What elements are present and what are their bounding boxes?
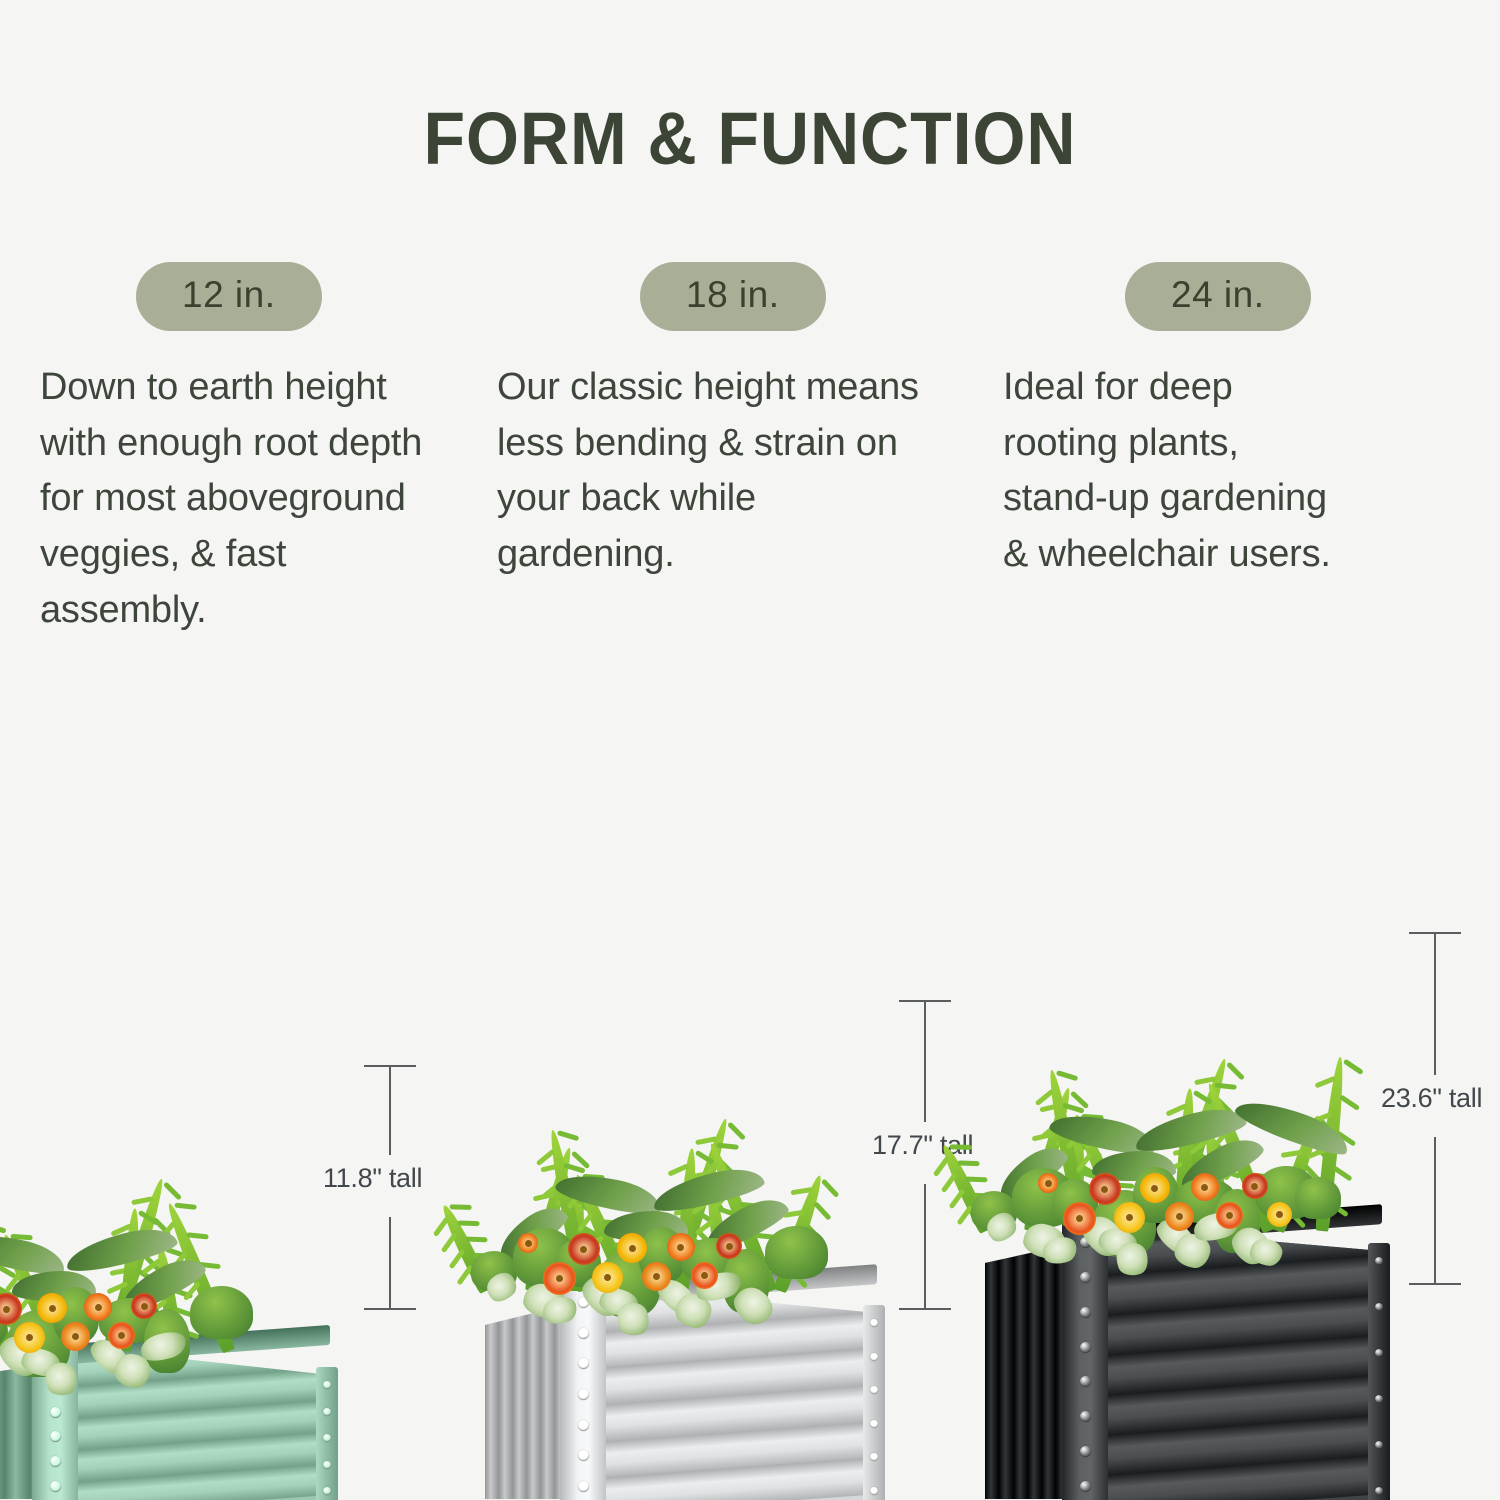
rivet-screw — [870, 1487, 878, 1495]
rivet-screw — [1080, 1307, 1091, 1318]
planter-front-panel — [55, 1345, 330, 1500]
rivet-screw — [1080, 1376, 1091, 1387]
rivet-screw — [1080, 1237, 1091, 1248]
corrugation-rib — [5, 1363, 30, 1499]
rivet-screw — [50, 1382, 61, 1393]
rivet-screw — [578, 1481, 589, 1492]
dimension-18in: 17.7" tall — [865, 1000, 985, 1310]
rivet-screw — [50, 1407, 61, 1418]
planter-box — [485, 985, 885, 1500]
corrugation-rib — [499, 1301, 513, 1499]
frond-barb — [449, 1249, 466, 1270]
product-image-18in — [485, 985, 885, 1500]
corrugation-rib — [541, 1301, 555, 1499]
corrugation-rib — [485, 1301, 499, 1499]
rivet-screw — [1080, 1272, 1091, 1283]
rivet-screw — [1080, 1342, 1091, 1353]
page-title: FORM & FUNCTION — [60, 96, 1440, 181]
frond-barb — [456, 1265, 473, 1286]
rivet-screw — [323, 1434, 331, 1442]
rivet-screw — [1080, 1481, 1091, 1492]
rivet-screw — [1375, 1303, 1383, 1311]
rivet-screw — [870, 1420, 878, 1428]
infographic-page: FORM & FUNCTION 12 in. Down to earth hei… — [0, 0, 1500, 1500]
height-badge-12in: 12 in. — [136, 262, 322, 331]
rivet-screw — [323, 1461, 331, 1469]
dimension-24in: 23.6" tall — [1375, 932, 1495, 1285]
planter-corner-post — [560, 1279, 606, 1500]
rivet-screw — [1375, 1395, 1383, 1403]
planter-front-panel — [583, 1285, 877, 1500]
rivet-screw — [578, 1297, 589, 1308]
height-badge-24in: 24 in. — [1125, 262, 1311, 331]
rivet-screw — [1080, 1446, 1091, 1457]
rivet-screw — [50, 1357, 61, 1368]
planter-top-rail — [55, 1325, 330, 1365]
rivet-screw — [870, 1319, 878, 1327]
planter-corner-post-right — [316, 1367, 338, 1500]
rivet-screw — [578, 1358, 589, 1369]
planter-box — [985, 925, 1390, 1500]
dimension-label-18in: 17.7" tall — [872, 1130, 973, 1161]
rivet-screw — [50, 1456, 61, 1467]
corrugation-rib — [999, 1241, 1013, 1499]
rivet-screw — [578, 1450, 589, 1461]
feature-column-18in: 18 in. Our classic height means less ben… — [497, 262, 927, 583]
corrugation-rib — [1014, 1241, 1028, 1499]
rivet-screw — [870, 1386, 878, 1394]
feature-description-24in: Ideal for deep rooting plants, stand-up … — [1003, 360, 1333, 583]
feature-description-12in: Down to earth height with enough root de… — [40, 360, 440, 638]
product-image-24in — [985, 925, 1390, 1500]
rivet-screw — [323, 1408, 331, 1416]
rivet-screw — [578, 1328, 589, 1339]
rivet-screw — [323, 1381, 331, 1389]
rivet-screw — [1080, 1411, 1091, 1422]
frond-barb — [457, 1220, 479, 1226]
dimension-label-24in: 23.6" tall — [1381, 1083, 1482, 1114]
height-badge-18in: 18 in. — [640, 262, 826, 331]
rivet-screw — [1375, 1487, 1383, 1495]
corrugation-rib — [513, 1301, 527, 1499]
rivet-screw — [1375, 1349, 1383, 1357]
frond-barb — [450, 1204, 472, 1210]
rivet-screw — [578, 1389, 589, 1400]
rivet-screw — [870, 1453, 878, 1461]
planter-corner-post-right — [863, 1305, 885, 1500]
feature-column-24in: 24 in. Ideal for deep rooting plants, st… — [1003, 262, 1333, 583]
corrugation-rib — [1028, 1241, 1042, 1499]
rivet-screw — [50, 1481, 61, 1492]
product-images: 11.8" tall 17.7" tall 23.6" tall — [0, 700, 1500, 1500]
planter-corner-post — [1062, 1219, 1108, 1500]
dimension-label-12in: 11.8" tall — [323, 1163, 422, 1194]
dimension-12in: 11.8" tall — [330, 1065, 450, 1310]
planter-box — [0, 1045, 340, 1500]
rivet-screw — [323, 1487, 331, 1495]
planter-corner-post — [32, 1339, 78, 1500]
rivet-screw — [1375, 1441, 1383, 1449]
rivet-screw — [870, 1353, 878, 1361]
rivet-screw — [578, 1420, 589, 1431]
corrugation-rib — [1042, 1241, 1056, 1499]
feature-description-18in: Our classic height means less bending & … — [497, 360, 927, 583]
product-image-12in — [0, 1045, 340, 1500]
corrugation-rib — [985, 1241, 999, 1499]
planter-front-panel — [1085, 1225, 1382, 1500]
corrugation-rib — [527, 1301, 541, 1499]
rivet-screw — [50, 1431, 61, 1442]
feature-column-12in: 12 in. Down to earth height with enough … — [40, 262, 440, 638]
